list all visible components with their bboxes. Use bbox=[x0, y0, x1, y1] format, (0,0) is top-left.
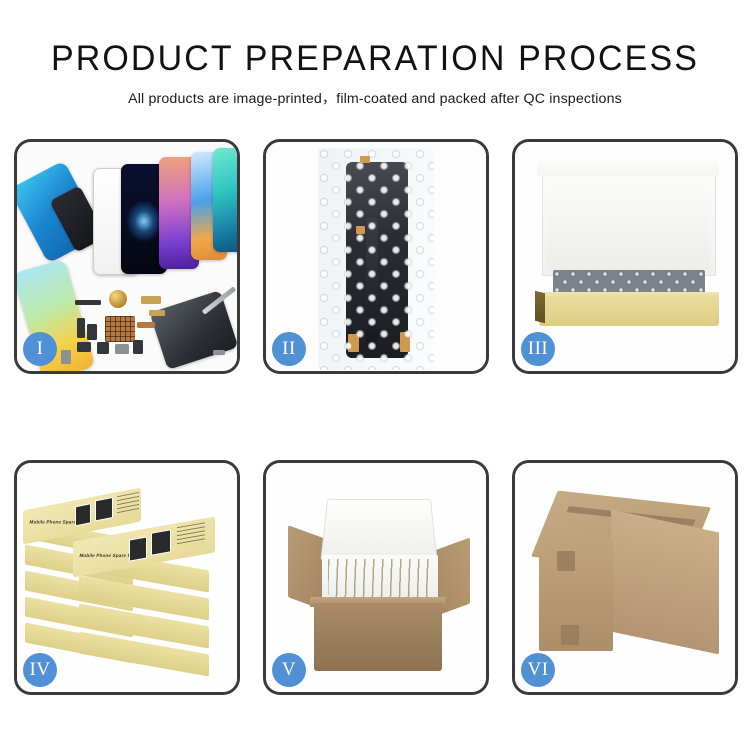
inner-box-side bbox=[535, 291, 545, 323]
step-badge-4: IV bbox=[23, 653, 57, 687]
step-badge-6: VI bbox=[521, 653, 555, 687]
process-step-3[interactable]: III bbox=[512, 139, 738, 374]
page-header: PRODUCT PREPARATION PROCESS All products… bbox=[0, 0, 750, 108]
part-copper-strip bbox=[137, 322, 155, 328]
process-step-grid: I II III bbox=[14, 139, 738, 695]
inner-boxes-yellow bbox=[328, 559, 432, 599]
process-step-4[interactable]: Mobile Phone Spare Parts Mobile Phone Sp… bbox=[14, 460, 240, 695]
photo-inner-box-packing: III bbox=[515, 142, 735, 371]
part-module-d bbox=[115, 344, 129, 354]
page-title: PRODUCT PREPARATION PROCESS bbox=[11, 0, 739, 76]
bubble-texture bbox=[318, 148, 434, 370]
part-grid-connector bbox=[105, 316, 135, 342]
foam-case-lid bbox=[320, 499, 437, 560]
part-module-e bbox=[133, 340, 143, 354]
inner-box-front bbox=[539, 298, 719, 326]
inner-box-foam bbox=[547, 178, 709, 270]
carton-tape-lower bbox=[561, 625, 579, 645]
step-badge-2: II bbox=[272, 332, 306, 366]
photo-boxes-stacked: Mobile Phone Spare Parts Mobile Phone Sp… bbox=[17, 463, 237, 692]
box-label-phone-front-1 bbox=[129, 536, 147, 561]
part-gold-small bbox=[149, 310, 165, 316]
photo-sealed-shipping-carton: VI bbox=[515, 463, 735, 692]
part-bar-black bbox=[75, 300, 101, 305]
box-label-phone-front-2 bbox=[151, 529, 171, 556]
photo-foam-carton-loading: V bbox=[266, 463, 486, 692]
bubble-bag bbox=[318, 148, 434, 370]
part-flex-strip bbox=[77, 318, 85, 338]
box-label-lines-front bbox=[177, 522, 205, 547]
photo-product-and-parts: I bbox=[17, 142, 237, 371]
box-label-phone-back-1 bbox=[75, 503, 91, 526]
page-subtitle: All products are image-printed，film-coat… bbox=[0, 76, 750, 108]
part-screw-set bbox=[213, 350, 225, 355]
box-label-lines-back bbox=[117, 492, 139, 514]
phone-display-teal bbox=[213, 148, 237, 252]
step-badge-5: V bbox=[272, 653, 306, 687]
process-step-2[interactable]: II bbox=[263, 139, 489, 374]
part-module-f bbox=[61, 350, 71, 364]
carton-right-face bbox=[611, 510, 719, 655]
box-label-phone-back-2 bbox=[95, 497, 113, 521]
carton-tape-upper bbox=[557, 551, 575, 571]
step-badge-1: I bbox=[23, 332, 57, 366]
process-step-1[interactable]: I bbox=[14, 139, 240, 374]
inner-box-lid-tabs bbox=[537, 154, 719, 176]
process-step-6[interactable]: VI bbox=[512, 460, 738, 695]
step-badge-3: III bbox=[521, 332, 555, 366]
part-speaker-round bbox=[109, 290, 127, 308]
part-gold-flex bbox=[141, 296, 161, 304]
process-step-5[interactable]: V bbox=[263, 460, 489, 695]
carton-front-panel bbox=[314, 603, 442, 671]
photo-bubble-bag-wrapping: II bbox=[266, 142, 486, 371]
part-module-b bbox=[77, 342, 91, 352]
part-module-c bbox=[97, 342, 109, 354]
part-module-a bbox=[87, 324, 97, 340]
